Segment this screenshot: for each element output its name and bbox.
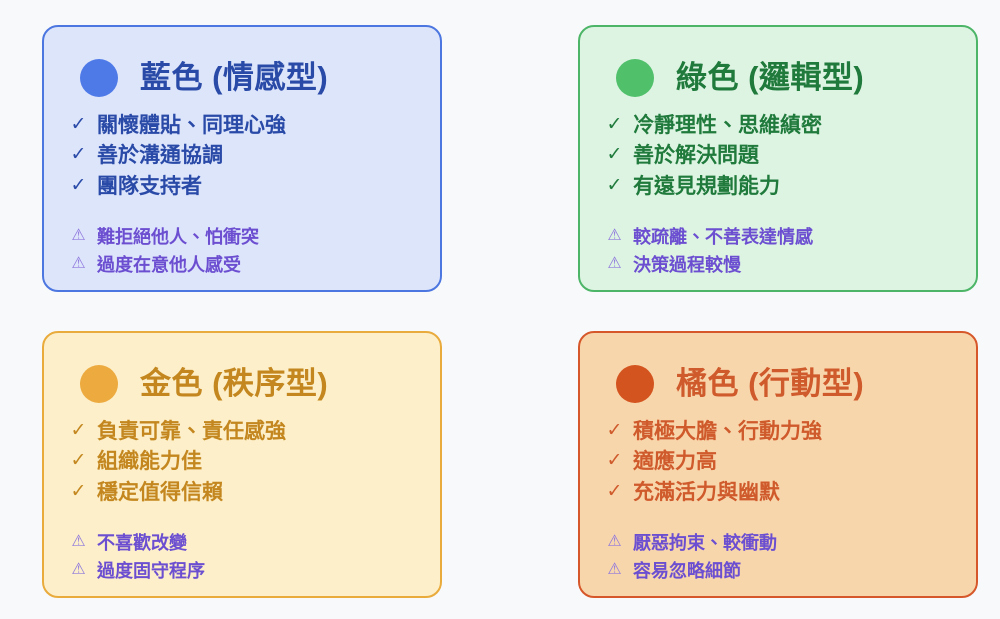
list-item: ⚠ 過度固守程序 xyxy=(70,558,418,585)
strength-text: 團隊支持者 xyxy=(97,172,202,202)
check-icon: ✓ xyxy=(606,141,623,169)
strength-text: 有遠見規劃能力 xyxy=(633,172,780,202)
check-icon: ✓ xyxy=(70,141,87,169)
warning-triangle-icon: ⚠ xyxy=(70,224,87,248)
strength-text: 冷靜理性、思維縝密 xyxy=(633,111,822,141)
check-icon: ✓ xyxy=(70,172,87,200)
strength-text: 善於溝通協調 xyxy=(97,141,223,171)
strength-list-orange: ✓ 積極大膽、行動力強 ✓ 適應力高 ✓ 充滿活力與幽默 xyxy=(602,417,954,508)
caution-text: 較疏離、不善表達情感 xyxy=(633,224,813,251)
caution-list-orange: ⚠ 厭惡拘束、較衝動 ⚠ 容易忽略細節 xyxy=(602,530,954,585)
card-title-orange: 橘色 (行動型) xyxy=(676,367,864,401)
list-item: ✓ 負責可靠、責任感強 xyxy=(70,417,418,447)
list-item: ⚠ 過度在意他人感受 xyxy=(70,252,418,279)
caution-text: 決策過程較慢 xyxy=(633,252,741,279)
strength-text: 積極大膽、行動力強 xyxy=(633,417,822,447)
list-item: ✓ 積極大膽、行動力強 xyxy=(606,417,954,447)
check-icon: ✓ xyxy=(606,447,623,475)
card-orange[interactable]: 橘色 (行動型) ✓ 積極大膽、行動力強 ✓ 適應力高 ✓ 充滿活力與幽默 ⚠ … xyxy=(578,331,978,598)
warning-triangle-icon: ⚠ xyxy=(606,224,623,248)
list-item: ✓ 團隊支持者 xyxy=(70,172,418,202)
strength-list-green: ✓ 冷靜理性、思維縝密 ✓ 善於解決問題 ✓ 有遠見規劃能力 xyxy=(602,111,954,202)
list-item: ✓ 適應力高 xyxy=(606,447,954,477)
color-dot-green-icon xyxy=(616,59,654,97)
warning-triangle-icon: ⚠ xyxy=(606,252,623,276)
card-gold[interactable]: 金色 (秩序型) ✓ 負責可靠、責任感強 ✓ 組織能力佳 ✓ 穩定值得信賴 ⚠ … xyxy=(42,331,442,598)
caution-list-green: ⚠ 較疏離、不善表達情感 ⚠ 決策過程較慢 xyxy=(602,224,954,279)
warning-triangle-icon: ⚠ xyxy=(606,530,623,554)
card-title-green: 綠色 (邏輯型) xyxy=(676,61,864,95)
card-header-orange: 橘色 (行動型) xyxy=(616,357,954,411)
list-item: ✓ 善於溝通協調 xyxy=(70,141,418,171)
list-item: ✓ 關懷體貼、同理心強 xyxy=(70,111,418,141)
caution-text: 厭惡拘束、較衝動 xyxy=(633,530,777,557)
strength-text: 組織能力佳 xyxy=(97,447,202,477)
color-dot-blue-icon xyxy=(80,59,118,97)
warning-triangle-icon: ⚠ xyxy=(70,252,87,276)
check-icon: ✓ xyxy=(70,417,87,445)
strength-list-blue: ✓ 關懷體貼、同理心強 ✓ 善於溝通協調 ✓ 團隊支持者 xyxy=(66,111,418,202)
card-title-blue: 藍色 (情感型) xyxy=(140,61,328,95)
warning-triangle-icon: ⚠ xyxy=(70,530,87,554)
warning-triangle-icon: ⚠ xyxy=(606,558,623,582)
check-icon: ✓ xyxy=(606,417,623,445)
strength-text: 適應力高 xyxy=(633,447,717,477)
card-header-gold: 金色 (秩序型) xyxy=(80,357,418,411)
caution-text: 難拒絕他人、怕衝突 xyxy=(97,224,259,251)
list-item: ⚠ 不喜歡改變 xyxy=(70,530,418,557)
strength-text: 穩定值得信賴 xyxy=(97,478,223,508)
caution-text: 過度固守程序 xyxy=(97,558,205,585)
list-item: ⚠ 厭惡拘束、較衝動 xyxy=(606,530,954,557)
check-icon: ✓ xyxy=(606,478,623,506)
card-header-green: 綠色 (邏輯型) xyxy=(616,51,954,105)
color-dot-orange-icon xyxy=(616,365,654,403)
caution-text: 不喜歡改變 xyxy=(97,530,187,557)
list-item: ⚠ 較疏離、不善表達情感 xyxy=(606,224,954,251)
caution-text: 過度在意他人感受 xyxy=(97,252,241,279)
list-item: ⚠ 容易忽略細節 xyxy=(606,558,954,585)
personality-card-board: 藍色 (情感型) ✓ 關懷體貼、同理心強 ✓ 善於溝通協調 ✓ 團隊支持者 ⚠ … xyxy=(0,0,1000,619)
strength-list-gold: ✓ 負責可靠、責任感強 ✓ 組織能力佳 ✓ 穩定值得信賴 xyxy=(66,417,418,508)
card-blue[interactable]: 藍色 (情感型) ✓ 關懷體貼、同理心強 ✓ 善於溝通協調 ✓ 團隊支持者 ⚠ … xyxy=(42,25,442,292)
list-item: ✓ 穩定值得信賴 xyxy=(70,478,418,508)
check-icon: ✓ xyxy=(606,172,623,200)
caution-text: 容易忽略細節 xyxy=(633,558,741,585)
card-header-blue: 藍色 (情感型) xyxy=(80,51,418,105)
list-item: ✓ 冷靜理性、思維縝密 xyxy=(606,111,954,141)
list-item: ✓ 充滿活力與幽默 xyxy=(606,478,954,508)
strength-text: 負責可靠、責任感強 xyxy=(97,417,286,447)
check-icon: ✓ xyxy=(70,111,87,139)
check-icon: ✓ xyxy=(70,447,87,475)
warning-triangle-icon: ⚠ xyxy=(70,558,87,582)
card-title-gold: 金色 (秩序型) xyxy=(140,367,328,401)
list-item: ✓ 組織能力佳 xyxy=(70,447,418,477)
list-item: ⚠ 難拒絕他人、怕衝突 xyxy=(70,224,418,251)
caution-list-gold: ⚠ 不喜歡改變 ⚠ 過度固守程序 xyxy=(66,530,418,585)
strength-text: 善於解決問題 xyxy=(633,141,759,171)
strength-text: 充滿活力與幽默 xyxy=(633,478,780,508)
check-icon: ✓ xyxy=(606,111,623,139)
list-item: ⚠ 決策過程較慢 xyxy=(606,252,954,279)
list-item: ✓ 有遠見規劃能力 xyxy=(606,172,954,202)
check-icon: ✓ xyxy=(70,478,87,506)
strength-text: 關懷體貼、同理心強 xyxy=(97,111,286,141)
color-dot-gold-icon xyxy=(80,365,118,403)
caution-list-blue: ⚠ 難拒絕他人、怕衝突 ⚠ 過度在意他人感受 xyxy=(66,224,418,279)
card-green[interactable]: 綠色 (邏輯型) ✓ 冷靜理性、思維縝密 ✓ 善於解決問題 ✓ 有遠見規劃能力 … xyxy=(578,25,978,292)
list-item: ✓ 善於解決問題 xyxy=(606,141,954,171)
